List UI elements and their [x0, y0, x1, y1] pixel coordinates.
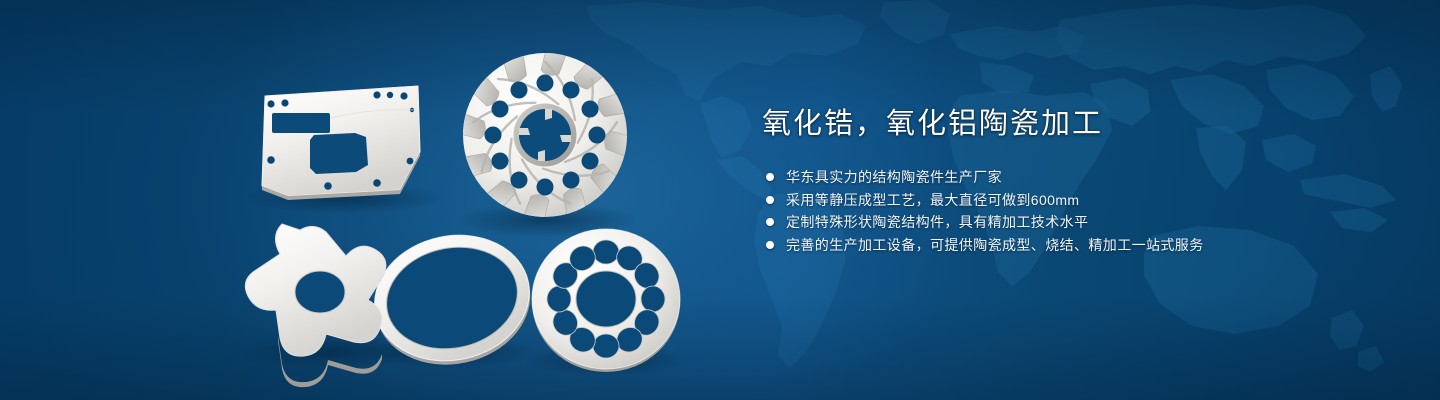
bullet-dot-icon	[766, 218, 774, 226]
bullet-dot-icon	[766, 196, 774, 204]
banner-headline: 氧化锆，氧化铝陶瓷加工	[762, 104, 1402, 144]
banner-copy: 氧化锆，氧化铝陶瓷加工 华东具实力的结构陶瓷件生产厂家 采用等静压成型工艺，最大…	[762, 104, 1402, 256]
feature-list: 华东具实力的结构陶瓷件生产厂家 采用等静压成型工艺，最大直径可做到600mm 定…	[766, 166, 1402, 256]
list-item: 完善的生产加工设备，可提供陶瓷成型、烧结、精加工一站式服务	[766, 234, 1402, 256]
feature-text: 完善的生产加工设备，可提供陶瓷成型、烧结、精加工一站式服务	[786, 234, 1204, 256]
bullet-dot-icon	[766, 173, 774, 181]
list-item: 华东具实力的结构陶瓷件生产厂家	[766, 166, 1402, 188]
list-item: 采用等静压成型工艺，最大直径可做到600mm	[766, 189, 1402, 211]
feature-text: 定制特殊形状陶瓷结构件，具有精加工技术水平	[786, 211, 1088, 233]
bullet-dot-icon	[766, 241, 774, 249]
feature-text: 采用等静压成型工艺，最大直径可做到600mm	[786, 189, 1079, 211]
ceramic-processing-banner: 氧化锆，氧化铝陶瓷加工 华东具实力的结构陶瓷件生产厂家 采用等静压成型工艺，最大…	[0, 0, 1440, 400]
list-item: 定制特殊形状陶瓷结构件，具有精加工技术水平	[766, 211, 1402, 233]
feature-text: 华东具实力的结构陶瓷件生产厂家	[786, 166, 1002, 188]
